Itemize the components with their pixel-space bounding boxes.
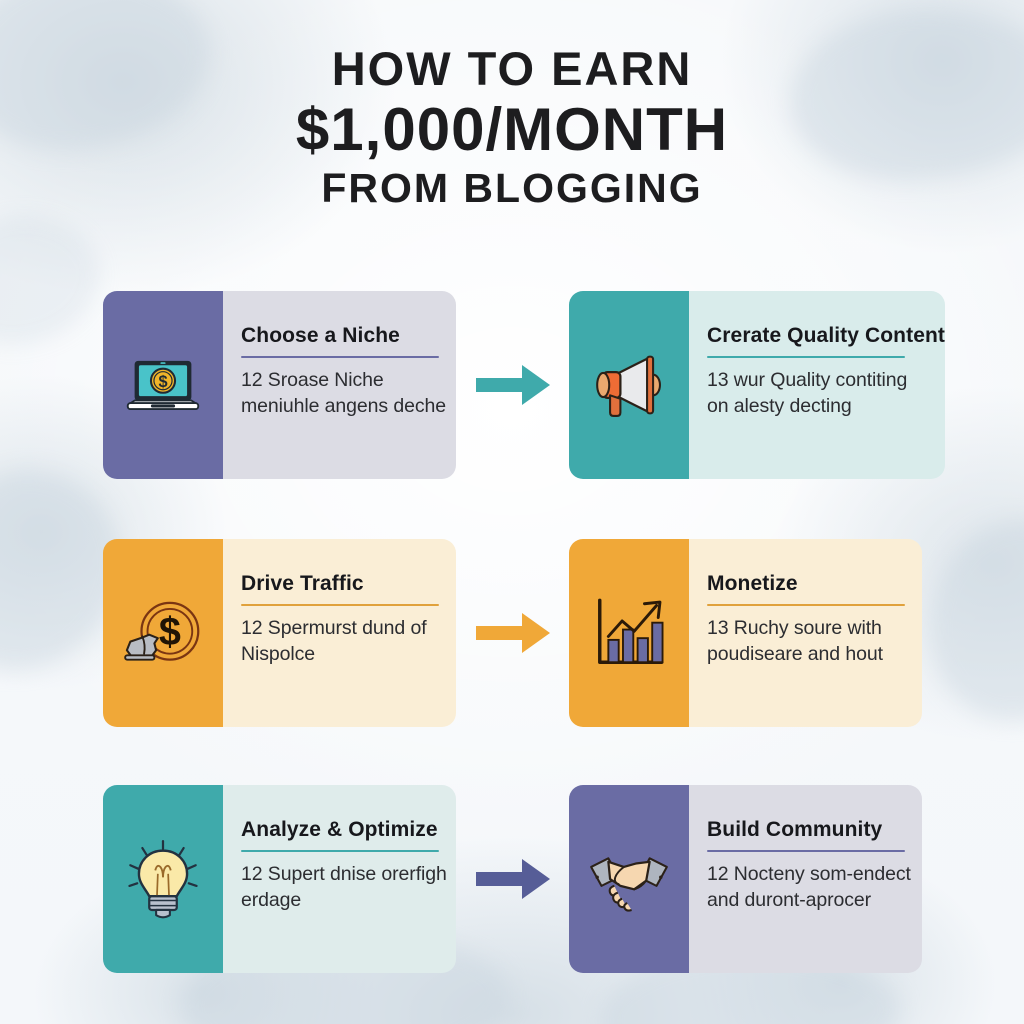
step-title: Choose a Niche: [241, 324, 456, 347]
step-icon-panel: $: [103, 291, 223, 479]
laptop-dollar-icon: $: [120, 342, 206, 428]
arrow-right-icon: [474, 359, 552, 411]
step-icon-panel: $: [103, 539, 223, 727]
step-title: Crerate Quality Content: [707, 324, 945, 347]
arrow-row-3: [474, 853, 552, 905]
step-body: Build Community 12 Nocteny som-endect an…: [689, 785, 922, 973]
step-rule: [707, 850, 905, 852]
background-blotch: [930, 520, 1024, 720]
step-rule: [707, 604, 905, 606]
step-title: Analyze & Optimize: [241, 818, 456, 841]
arrow-right-icon: [474, 607, 552, 659]
arrow-row-2: [474, 607, 552, 659]
step-description: 12 Sroase Niche meniuhle angens deche: [241, 368, 456, 420]
svg-text:$: $: [159, 610, 181, 654]
step-rule: [241, 356, 439, 358]
money-bag-coin-icon: $: [120, 590, 206, 676]
background-blotch: [0, 215, 100, 345]
step-title: Monetize: [707, 572, 922, 595]
step-rule: [707, 356, 905, 358]
step-rule: [241, 850, 439, 852]
step-body: Drive Traffic 12 Spermurst dund of Nispo…: [223, 539, 456, 727]
steps-row-3: Analyze & Optimize 12 Supert dnise orerf…: [103, 785, 921, 973]
bar-chart-growth-icon: [586, 590, 672, 676]
lightbulb-icon: [120, 836, 206, 922]
arrow-right-icon: [474, 853, 552, 905]
step-card-build-community[interactable]: Build Community 12 Nocteny som-endect an…: [569, 785, 921, 973]
step-card-monetize[interactable]: Monetize 13 Ruchy soure with poudiseare …: [569, 539, 921, 727]
megaphone-icon: [586, 342, 672, 428]
step-title: Build Community: [707, 818, 922, 841]
steps-row-2: $ Drive Traffic 12 Spermurst dund of Nis…: [103, 539, 921, 727]
step-description: 13 wur Quality contiting on alesty decti…: [707, 368, 922, 420]
step-description: 12 Nocteny som-endect and duront-aprocer: [707, 862, 922, 914]
svg-text:$: $: [158, 373, 167, 391]
step-icon-panel: [569, 785, 689, 973]
background-blotch: [0, 470, 120, 670]
step-card-choose-a-niche[interactable]: $ Choose a Niche 12 Sroase Niche meniuhl…: [103, 291, 455, 479]
title-line-3: FROM BLOGGING: [0, 166, 1024, 211]
step-icon-panel: [103, 785, 223, 973]
handshake-icon: [586, 836, 672, 922]
step-body: Crerate Quality Content 13 wur Quality c…: [689, 291, 945, 479]
step-icon-panel: [569, 291, 689, 479]
step-description: 12 Supert dnise orerfigh erdage: [241, 862, 456, 914]
infographic-poster: HOW TO EARN $1,000/MONTH FROM BLOGGING $: [0, 0, 1024, 1024]
steps-grid: $ Choose a Niche 12 Sroase Niche meniuhl…: [103, 291, 921, 971]
step-icon-panel: [569, 539, 689, 727]
poster-title: HOW TO EARN $1,000/MONTH FROM BLOGGING: [0, 44, 1024, 211]
step-rule: [241, 604, 439, 606]
step-body: Monetize 13 Ruchy soure with poudiseare …: [689, 539, 922, 727]
step-card-analyze-and-optimize[interactable]: Analyze & Optimize 12 Supert dnise orerf…: [103, 785, 455, 973]
step-body: Choose a Niche 12 Sroase Niche meniuhle …: [223, 291, 456, 479]
step-title: Drive Traffic: [241, 572, 456, 595]
step-card-drive-traffic[interactable]: $ Drive Traffic 12 Spermurst dund of Nis…: [103, 539, 455, 727]
title-line-2: $1,000/MONTH: [0, 96, 1024, 163]
step-body: Analyze & Optimize 12 Supert dnise orerf…: [223, 785, 456, 973]
step-description: 13 Ruchy soure with poudiseare and hout: [707, 616, 922, 668]
title-line-1: HOW TO EARN: [0, 44, 1024, 94]
step-card-create-quality-content[interactable]: Crerate Quality Content 13 wur Quality c…: [569, 291, 921, 479]
step-description: 12 Spermurst dund of Nispolce: [241, 616, 456, 668]
arrow-row-1: [474, 359, 552, 411]
steps-row-1: $ Choose a Niche 12 Sroase Niche meniuhl…: [103, 291, 921, 479]
